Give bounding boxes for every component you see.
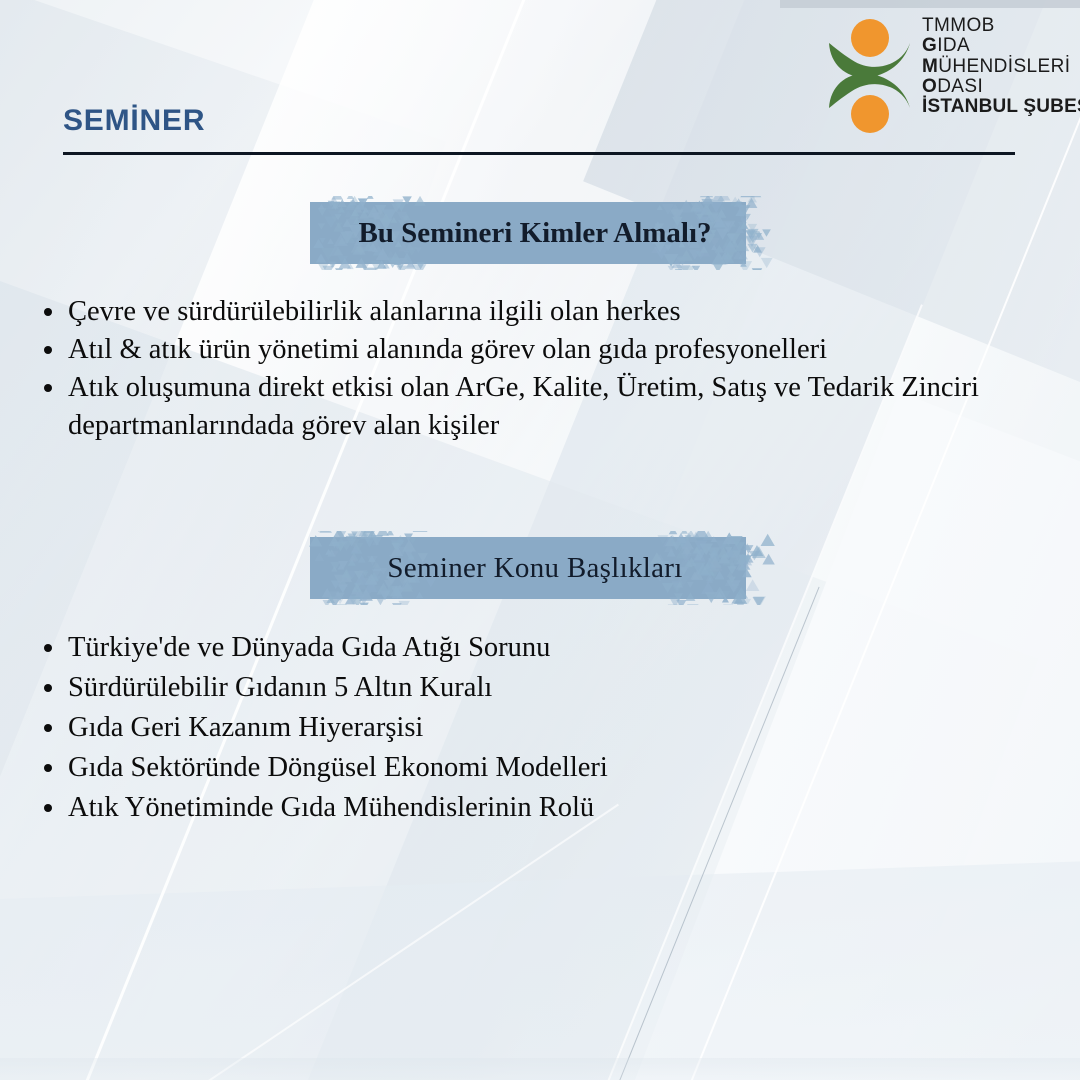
seminar-slide: SEMİNER TMMOB GIDA MÜHENDİSLERİ ODASI İS… <box>0 0 1080 1080</box>
list-item: Atık oluşumuna direkt etkisi olan ArGe, … <box>36 369 1056 445</box>
title-divider <box>63 152 1015 155</box>
tmmob-logo-icon <box>826 12 914 140</box>
background-highlight-line-4 <box>0 804 619 1080</box>
logo-line-gida: GIDA <box>922 36 1080 56</box>
section-banner-topics: Seminer Konu Başlıkları <box>295 531 775 605</box>
background-facet-bottom <box>0 854 1080 1080</box>
section-title-audience: Bu Semineri Kimler Almalı? <box>295 196 775 270</box>
logo-line-istanbul-subesi: İSTANBUL ŞUBESİ <box>922 97 1080 117</box>
list-item: Atıl & atık ürün yönetimi alanında görev… <box>36 331 1056 369</box>
list-item: Gıda Geri Kazanım Hiyerarşisi <box>36 709 1056 747</box>
logo-line-tmmob: TMMOB <box>922 16 1080 36</box>
list-item: Sürdürülebilir Gıdanın 5 Altın Kuralı <box>36 669 1056 707</box>
audience-list: Çevre ve sürdürülebilirlik alanlarına il… <box>36 293 1056 445</box>
list-item: Çevre ve sürdürülebilirlik alanlarına il… <box>36 293 1056 331</box>
list-item: Atık Yönetiminde Gıda Mühendislerinin Ro… <box>36 789 1056 827</box>
background-bottom-band <box>0 1058 1080 1080</box>
logo-line-odasi: ODASI <box>922 77 1080 97</box>
organization-logo: TMMOB GIDA MÜHENDİSLERİ ODASI İSTANBUL Ş… <box>826 12 1076 140</box>
section-banner-audience: Bu Semineri Kimler Almalı? <box>295 196 775 270</box>
logo-wordmark: TMMOB GIDA MÜHENDİSLERİ ODASI İSTANBUL Ş… <box>922 12 1080 118</box>
background-top-strip <box>780 0 1080 8</box>
topics-list: Türkiye'de ve Dünyada Gıda Atığı SorunuS… <box>36 629 1056 828</box>
page-title: SEMİNER <box>63 104 205 138</box>
logo-line-muhendisleri: MÜHENDİSLERİ <box>922 57 1080 77</box>
section-title-topics: Seminer Konu Başlıkları <box>295 531 775 605</box>
list-item: Türkiye'de ve Dünyada Gıda Atığı Sorunu <box>36 629 1056 667</box>
list-item: Gıda Sektöründe Döngüsel Ekonomi Modelle… <box>36 749 1056 787</box>
